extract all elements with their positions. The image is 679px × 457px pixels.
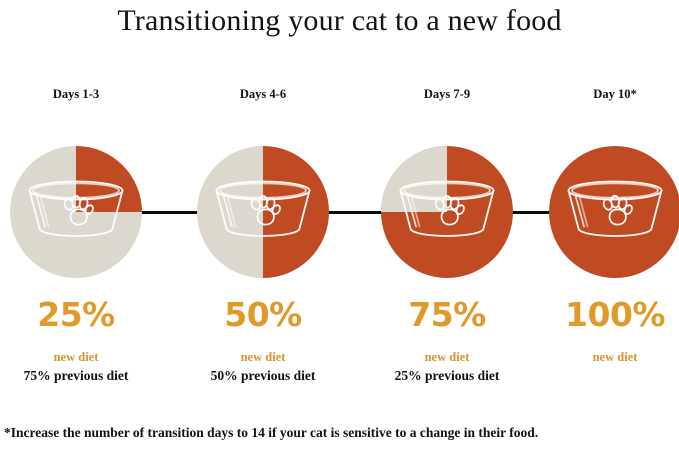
stage-previous-diet-label: 50% previous diet [178, 368, 348, 384]
timeline-connector-icon [322, 211, 388, 214]
stage-percent: 25% [0, 297, 161, 333]
stage-new-diet-label: new diet [362, 350, 532, 365]
stage-percent: 100% [530, 297, 679, 333]
transition-timeline: Days 1-3 [0, 0, 679, 400]
timeline-connector-icon [136, 211, 206, 214]
stage-percent: 75% [362, 297, 532, 333]
diet-ratio-pie-3 [381, 146, 513, 278]
stage-day-label: Days 4-6 [178, 87, 348, 102]
infographic-root: Transitioning your cat to a new food Day… [0, 0, 679, 457]
stage-previous-diet-label: 75% previous diet [0, 368, 161, 384]
stage-percent: 50% [178, 297, 348, 333]
stage-new-diet-label: new diet [0, 350, 161, 365]
stage-day-label: Days 7-9 [362, 87, 532, 102]
diet-ratio-pie-4 [549, 146, 679, 278]
stage-day-label: Days 1-3 [0, 87, 161, 102]
footnote-text: *Increase the number of transition days … [4, 425, 676, 441]
diet-ratio-pie-1 [10, 146, 142, 278]
stage-day-label: Day 10* [530, 87, 679, 102]
stage-previous-diet-label: 25% previous diet [362, 368, 532, 384]
stage-new-diet-label: new diet [178, 350, 348, 365]
stage-new-diet-label: new diet [530, 350, 679, 365]
diet-ratio-pie-2 [197, 146, 329, 278]
